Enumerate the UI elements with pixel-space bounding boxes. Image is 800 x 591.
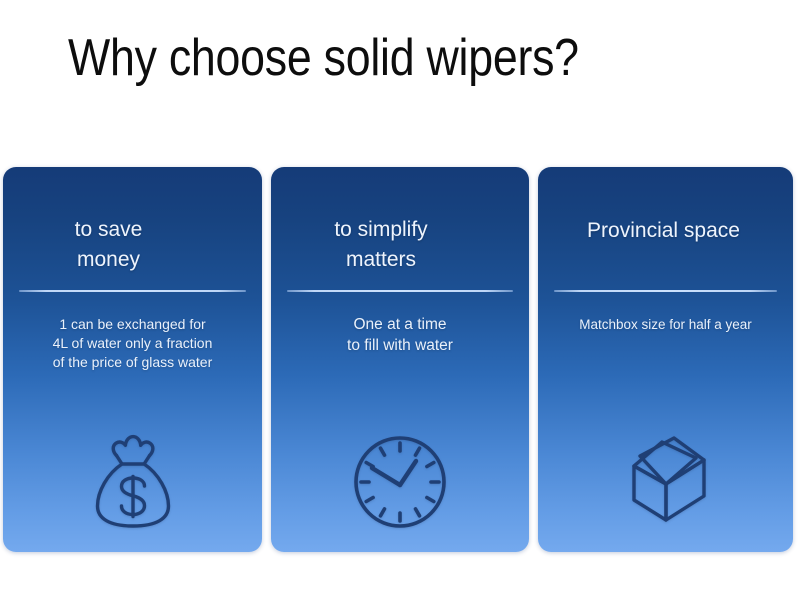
card-inner: Provincial space Matchbox size for half … (538, 167, 793, 552)
card-divider (287, 290, 513, 292)
card-heading-line: Provincial space (542, 216, 785, 246)
card-heading: to save money (3, 215, 262, 275)
benefit-cards-row: to save money 1 can be exchanged for 4L … (0, 167, 800, 552)
money-bag-icon (85, 426, 181, 534)
card-body: One at a time to fill with water (271, 314, 529, 356)
title-area: Why choose solid wipers? (0, 24, 800, 114)
card-heading-line: matters (283, 245, 479, 275)
slide: Why choose solid wipers? to save money 1… (0, 0, 800, 591)
benefit-card-save-money[interactable]: to save money 1 can be exchanged for 4L … (3, 167, 262, 552)
open-box-icon (604, 406, 728, 530)
card-heading: Provincial space (538, 216, 793, 246)
card-body-line: 4L of water only a fraction (13, 334, 252, 353)
card-body-line: of the price of glass water (13, 353, 252, 372)
benefit-card-simplify-matters[interactable]: to simplify matters One at a time to fil… (271, 167, 529, 552)
card-heading: to simplify matters (271, 215, 529, 275)
card-heading-line: to save (11, 215, 206, 245)
clock-icon (350, 432, 450, 532)
card-body: 1 can be exchanged for 4L of water only … (3, 315, 262, 372)
card-body-line: 1 can be exchanged for (13, 315, 252, 334)
card-inner: to simplify matters One at a time to fil… (271, 167, 529, 552)
card-inner: to save money 1 can be exchanged for 4L … (3, 167, 262, 552)
card-body-line: to fill with water (281, 335, 519, 356)
card-body-line: One at a time (281, 314, 519, 335)
card-body-line: Matchbox size for half a year (548, 315, 783, 334)
page-title: Why choose solid wipers? (68, 24, 579, 92)
card-heading-line: money (11, 245, 206, 275)
card-divider (19, 290, 246, 292)
card-divider (554, 290, 777, 292)
card-heading-line: to simplify (283, 215, 479, 245)
card-body: Matchbox size for half a year (538, 315, 793, 334)
benefit-card-provincial-space[interactable]: Provincial space Matchbox size for half … (538, 167, 793, 552)
